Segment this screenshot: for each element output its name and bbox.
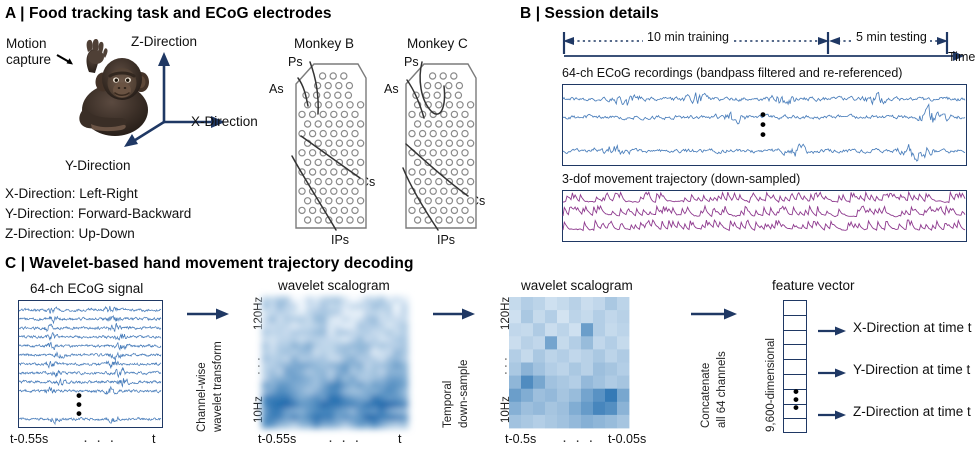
stage2-x-end: t — [398, 432, 401, 446]
scalogram-smooth — [262, 297, 408, 428]
motion-capture-label-line1: Motion — [6, 36, 47, 51]
feature-vector-dimension-label: 9,600-dimensional — [765, 338, 777, 432]
stage2-title: wavelet scalogram — [278, 278, 390, 293]
axis-arrow-z — [158, 52, 170, 66]
stage4-title: feature vector — [772, 278, 855, 293]
stage1-title: 64-ch ECoG signal — [30, 281, 143, 296]
feature-vector-vertical-ellipsis: ••• — [793, 390, 799, 410]
legend-x-direction: X-Direction: Left-Right — [5, 186, 138, 201]
legend-y-direction: Y-Direction: Forward-Backward — [5, 206, 191, 221]
array-b-title: Monkey B — [294, 36, 354, 51]
feature-cell — [783, 344, 807, 359]
timeline-training-label: 10 min training — [643, 30, 733, 44]
arrow2-label-line2: down-sample — [458, 360, 470, 428]
stage1-vertical-ellipsis: ••• — [76, 394, 82, 416]
arrow1-label-line1: Channel-wise — [196, 362, 208, 432]
scalogram-blocky — [509, 297, 629, 428]
feature-vector-column: ••• — [783, 300, 807, 433]
feature-cell — [783, 330, 807, 345]
electrode-array-monkey-b — [288, 56, 370, 236]
array-c-title: Monkey C — [407, 36, 468, 51]
output-arrow-x — [817, 324, 847, 338]
array-c-as-label: As — [384, 82, 399, 96]
electrode-array-monkey-c — [398, 56, 480, 236]
output-label-y: Y-Direction at time t — [853, 362, 970, 377]
output-label-x: X-Direction at time t — [853, 320, 972, 335]
axes-3d — [118, 48, 228, 148]
legend-z-direction: Z-Direction: Up-Down — [5, 226, 135, 241]
output-arrow-z — [817, 408, 847, 422]
motion-capture-label-line2: capture — [6, 52, 51, 67]
stage1-x-dots: · · · — [83, 432, 116, 449]
ecog-box-vertical-ellipsis: ••• — [760, 113, 766, 137]
trajectory-caption: 3-dof movement trajectory (down-sampled) — [562, 172, 800, 186]
timeline-testing-label: 5 min testing — [853, 30, 930, 44]
axis-label-x: X-Direction — [191, 114, 258, 129]
array-b-as-label: As — [269, 82, 284, 96]
arrow1-label-line2: wavelet transform — [212, 341, 224, 432]
feature-cell-ellipsis: ••• — [783, 389, 807, 404]
axis-label-y: Y-Direction — [65, 158, 131, 173]
axis-arrow-y — [124, 134, 138, 147]
arrow3-label-line1: Concatenate — [700, 363, 712, 428]
stage2-x-start: t-0.55s — [258, 432, 296, 446]
stage2-x-dots: · · · — [328, 432, 361, 449]
stage3-x-dots: · · · — [562, 432, 595, 449]
ecog-signal-box — [18, 300, 163, 428]
stage1-x-start: t-0.55s — [10, 432, 48, 446]
panel-b-heading: B | Session details — [520, 5, 659, 23]
ecog-recordings-caption: 64-ch ECoG recordings (bandpass filtered… — [562, 66, 902, 80]
timeline-time-label: Time — [948, 50, 975, 64]
pipeline-arrow-2 — [432, 305, 476, 323]
pipeline-arrow-3 — [690, 305, 738, 323]
arrow2-label-line1: Temporal — [442, 381, 454, 428]
pipeline-arrow-1 — [186, 305, 230, 323]
feature-cell — [783, 359, 807, 374]
output-label-z: Z-Direction at time t — [853, 404, 971, 419]
arrow3-label-line2: all 64 channels — [716, 351, 728, 428]
panel-a-heading: A | Food tracking task and ECoG electrod… — [5, 5, 332, 23]
axis-label-z: Z-Direction — [131, 34, 197, 49]
feature-cell — [783, 315, 807, 330]
stage3-x-end: t-0.05s — [608, 432, 646, 446]
stage3-title: wavelet scalogram — [521, 278, 633, 293]
stage1-x-end: t — [152, 432, 155, 446]
feature-cell — [783, 418, 807, 433]
output-arrow-y — [817, 366, 847, 380]
stage3-x-start: t-0.5s — [505, 432, 536, 446]
feature-cell — [783, 300, 807, 315]
panel-c-heading: C | Wavelet-based hand movement trajecto… — [5, 255, 414, 273]
trajectory-box — [562, 190, 967, 242]
